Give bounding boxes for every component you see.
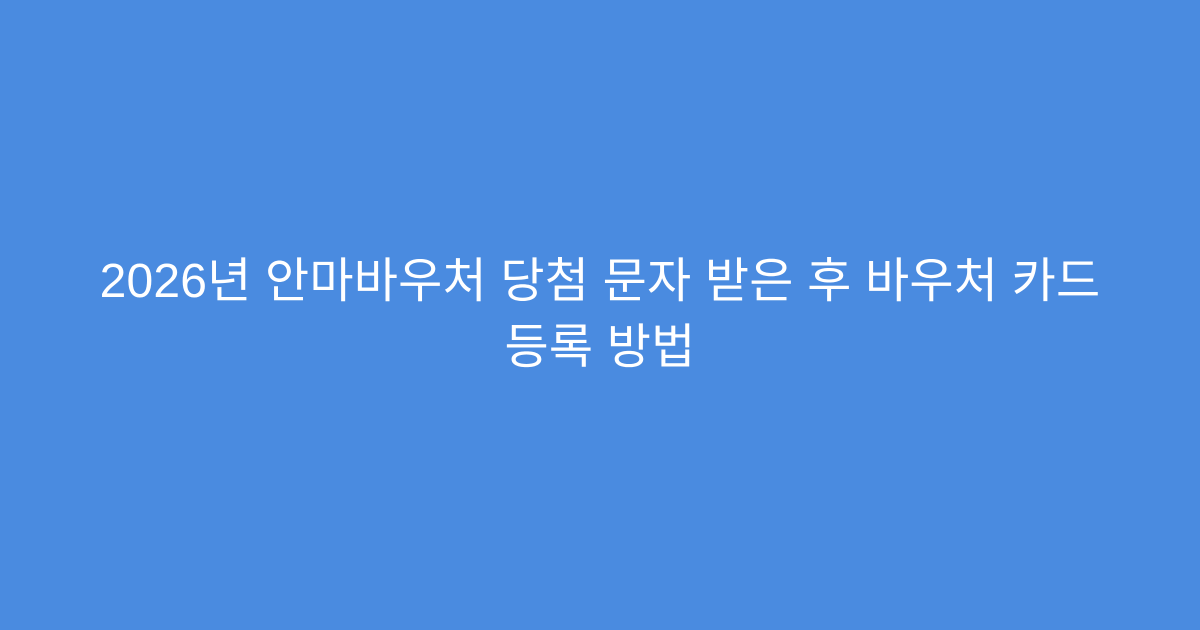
page-title: 2026년 안마바우처 당첨 문자 받은 후 바우처 카드 등록 방법 — [56, 249, 1144, 381]
og-card: 2026년 안마바우처 당첨 문자 받은 후 바우처 카드 등록 방법 — [0, 0, 1200, 630]
title-block: 2026년 안마바우처 당첨 문자 받은 후 바우처 카드 등록 방법 — [0, 249, 1200, 381]
